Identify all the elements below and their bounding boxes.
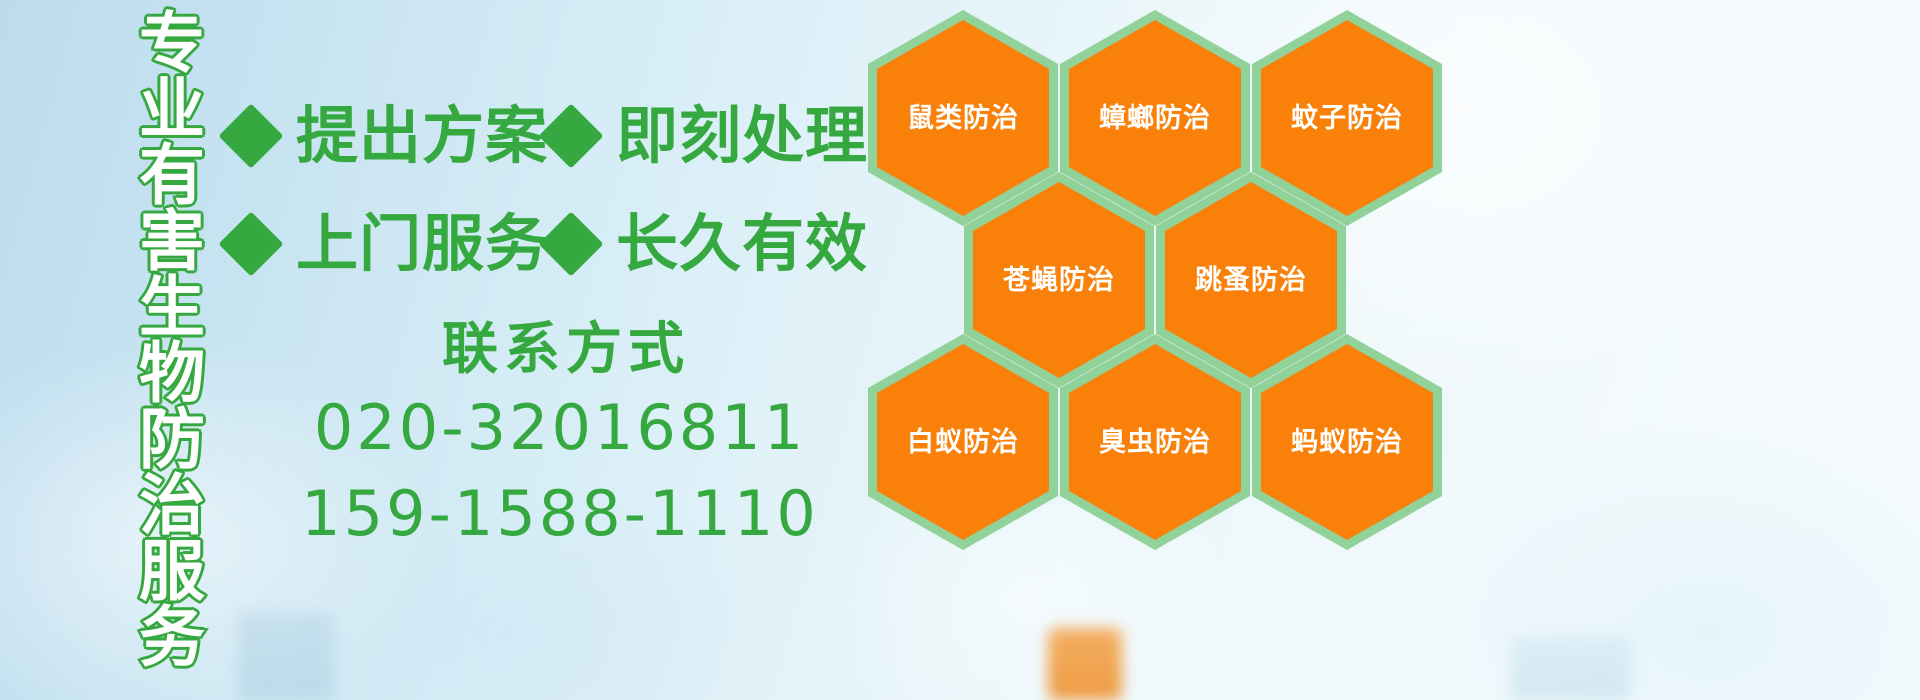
- service-label: 蟑螂防治: [1099, 105, 1211, 132]
- feature-row: 上门服务 长久有效: [228, 190, 868, 298]
- diamond-bullet-icon: [218, 103, 283, 168]
- background-shape: [1510, 636, 1630, 700]
- hex-inner-fill: 鼠类防治: [877, 20, 1049, 216]
- hex-inner-fill: 蚊子防治: [1261, 20, 1433, 216]
- service-label: 鼠类防治: [907, 105, 1019, 132]
- diamond-bullet-icon: [218, 211, 283, 276]
- contact-phone-mobile[interactable]: 159-1588-1110: [300, 474, 820, 553]
- feature-label: 即刻处理: [616, 105, 868, 167]
- diamond-bullet-icon: [538, 211, 603, 276]
- hex-inner-fill: 跳蚤防治: [1165, 182, 1337, 378]
- feature-label: 长久有效: [616, 213, 868, 275]
- hex-inner-fill: 白蚁防治: [877, 344, 1049, 540]
- feature-item-long-lasting: 长久有效: [548, 213, 868, 275]
- feature-label: 上门服务: [296, 213, 548, 275]
- contact-heading: 联系方式: [312, 318, 820, 382]
- hex-inner-fill: 臭虫防治: [1069, 344, 1241, 540]
- background-light-blob: [1400, 420, 1920, 700]
- feature-row: 提出方案 即刻处理: [228, 82, 868, 190]
- service-honeycomb: 鼠类防治 蟑螂防治 蚊子防治 苍蝇防治 跳蚤防治 白蚁防治: [862, 2, 1462, 562]
- contact-block: 联系方式 020-32016811 159-1588-1110: [300, 318, 820, 553]
- feature-item-immediate-handling: 即刻处理: [548, 105, 868, 167]
- contact-phone-landline[interactable]: 020-32016811: [300, 388, 820, 467]
- service-label: 臭虫防治: [1099, 429, 1211, 456]
- feature-label: 提出方案: [296, 105, 548, 167]
- hex-inner-fill: 苍蝇防治: [973, 182, 1145, 378]
- hex-inner-fill: 蟑螂防治: [1069, 20, 1241, 216]
- vertical-headline: 专业有害生物防治服务: [108, 8, 200, 568]
- hex-inner-fill: 蚂蚁防治: [1261, 344, 1433, 540]
- service-label: 蚂蚁防治: [1291, 429, 1403, 456]
- service-label: 跳蚤防治: [1195, 267, 1307, 294]
- diamond-bullet-icon: [538, 103, 603, 168]
- feature-list: 提出方案 即刻处理 上门服务 长久有效: [228, 82, 868, 298]
- service-label: 蚊子防治: [1291, 105, 1403, 132]
- background-shape: [238, 612, 334, 700]
- pest-control-banner: 专业有害生物防治服务 提出方案 即刻处理 上门服务 长久有效 联系方式: [0, 0, 1920, 700]
- feature-item-propose-plan: 提出方案: [228, 105, 548, 167]
- service-label: 苍蝇防治: [1003, 267, 1115, 294]
- feature-item-onsite-service: 上门服务: [228, 213, 548, 275]
- background-shape: [1048, 628, 1122, 700]
- service-label: 白蚁防治: [907, 429, 1019, 456]
